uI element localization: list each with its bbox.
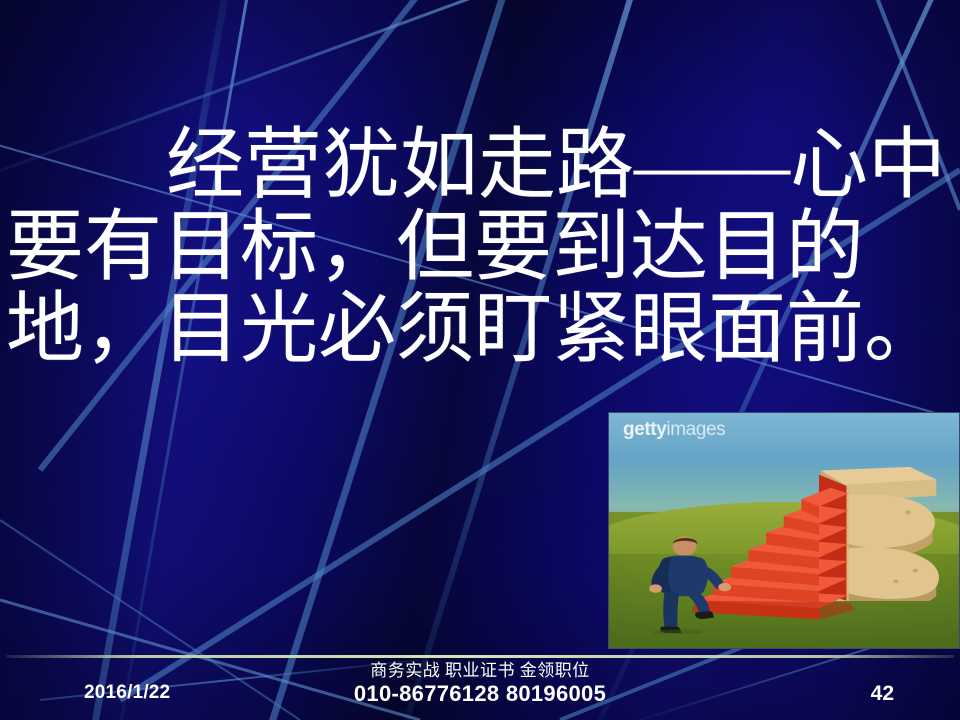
slide-headline: 经营犹如走路——心中要有目标，但要到达目的地，目光必须盯紧眼面前。 <box>0 124 960 370</box>
presentation-slide: 经营犹如走路——心中要有目标，但要到达目的地，目光必须盯紧眼面前。 <box>0 0 960 720</box>
footer-page-number: 42 <box>871 682 894 706</box>
watermark-light-text: images <box>666 419 725 440</box>
getty-images-watermark: gettyimages <box>623 419 725 441</box>
illustration-image: gettyimages <box>608 412 960 649</box>
businessman-figure-icon <box>641 535 732 634</box>
footer-tagline: 商务实战 职业证书 金领职位 <box>0 660 960 681</box>
footer-center-block: 商务实战 职业证书 金领职位 010-86776128 80196005 <box>0 660 960 706</box>
watermark-bold-text: getty <box>623 419 666 440</box>
slide-footer: 2016/1/22 商务实战 职业证书 金领职位 010-86776128 80… <box>0 658 960 720</box>
footer-phone-numbers: 010-86776128 80196005 <box>0 681 960 706</box>
